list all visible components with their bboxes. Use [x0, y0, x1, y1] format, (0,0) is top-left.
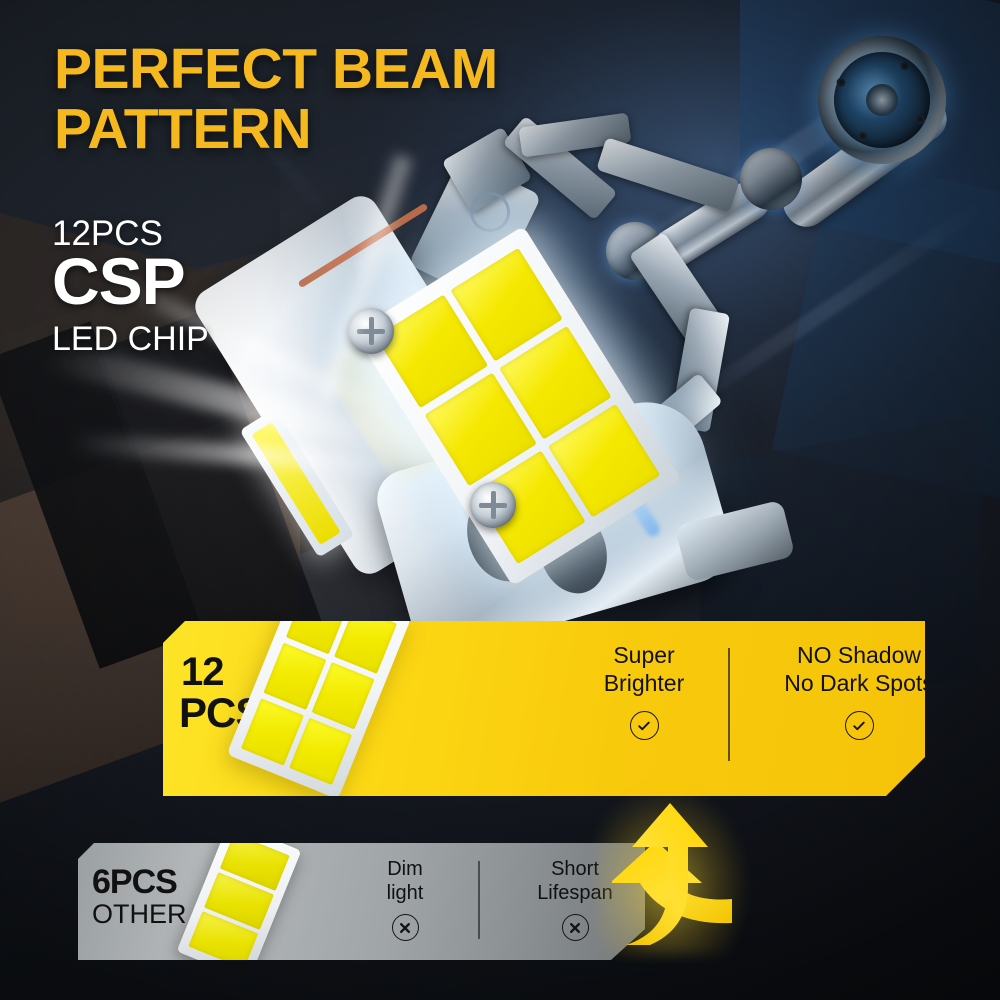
feature-label-line-1: NO Shadow	[797, 642, 921, 668]
bad-count-block: 6PCS OTHER	[92, 865, 187, 928]
headline-line-2: PATTERN	[54, 102, 498, 158]
bad-feature-dim-light: Dim light	[350, 857, 460, 941]
page-title: PERFECT BEAM PATTERN	[54, 42, 498, 158]
feature-label-line-1: Super	[613, 642, 674, 668]
comparison-banner-good: 12 PCS Super Brighter	[163, 621, 925, 796]
good-count-number: 12	[181, 653, 262, 692]
check-icon	[630, 711, 659, 740]
feature-label-line-2: Brighter	[604, 670, 685, 696]
bad-count-number: 6PCS	[92, 865, 187, 900]
headline-line-1: PERFECT BEAM	[54, 37, 498, 101]
feature-label-line-1: Short	[551, 858, 599, 880]
feature-label-line-1: Dim	[387, 858, 423, 880]
comparison-banner-bad: 6PCS OTHER Dim light	[78, 843, 645, 960]
good-feature-super-brighter: Super Brighter	[569, 641, 719, 740]
bad-count-label: OTHER	[92, 901, 187, 929]
product-marketing-image: PERFECT BEAM PATTERN 12PCS CSP LED CHIP …	[0, 0, 1000, 1000]
subheading-name: CSP	[52, 248, 185, 314]
arrow-up-icon	[612, 795, 732, 945]
feature-label-line-2: No Dark Spots	[784, 670, 934, 696]
upgrade-arrow	[612, 795, 732, 945]
feature-label-line-2: light	[387, 882, 424, 904]
feature-divider	[728, 648, 730, 761]
x-icon	[562, 914, 589, 941]
bad-led-chip-graphic	[177, 821, 302, 980]
subheading-type: LED CHIP	[52, 320, 209, 359]
feature-divider	[478, 861, 480, 939]
x-icon	[392, 914, 419, 941]
check-icon	[845, 711, 874, 740]
